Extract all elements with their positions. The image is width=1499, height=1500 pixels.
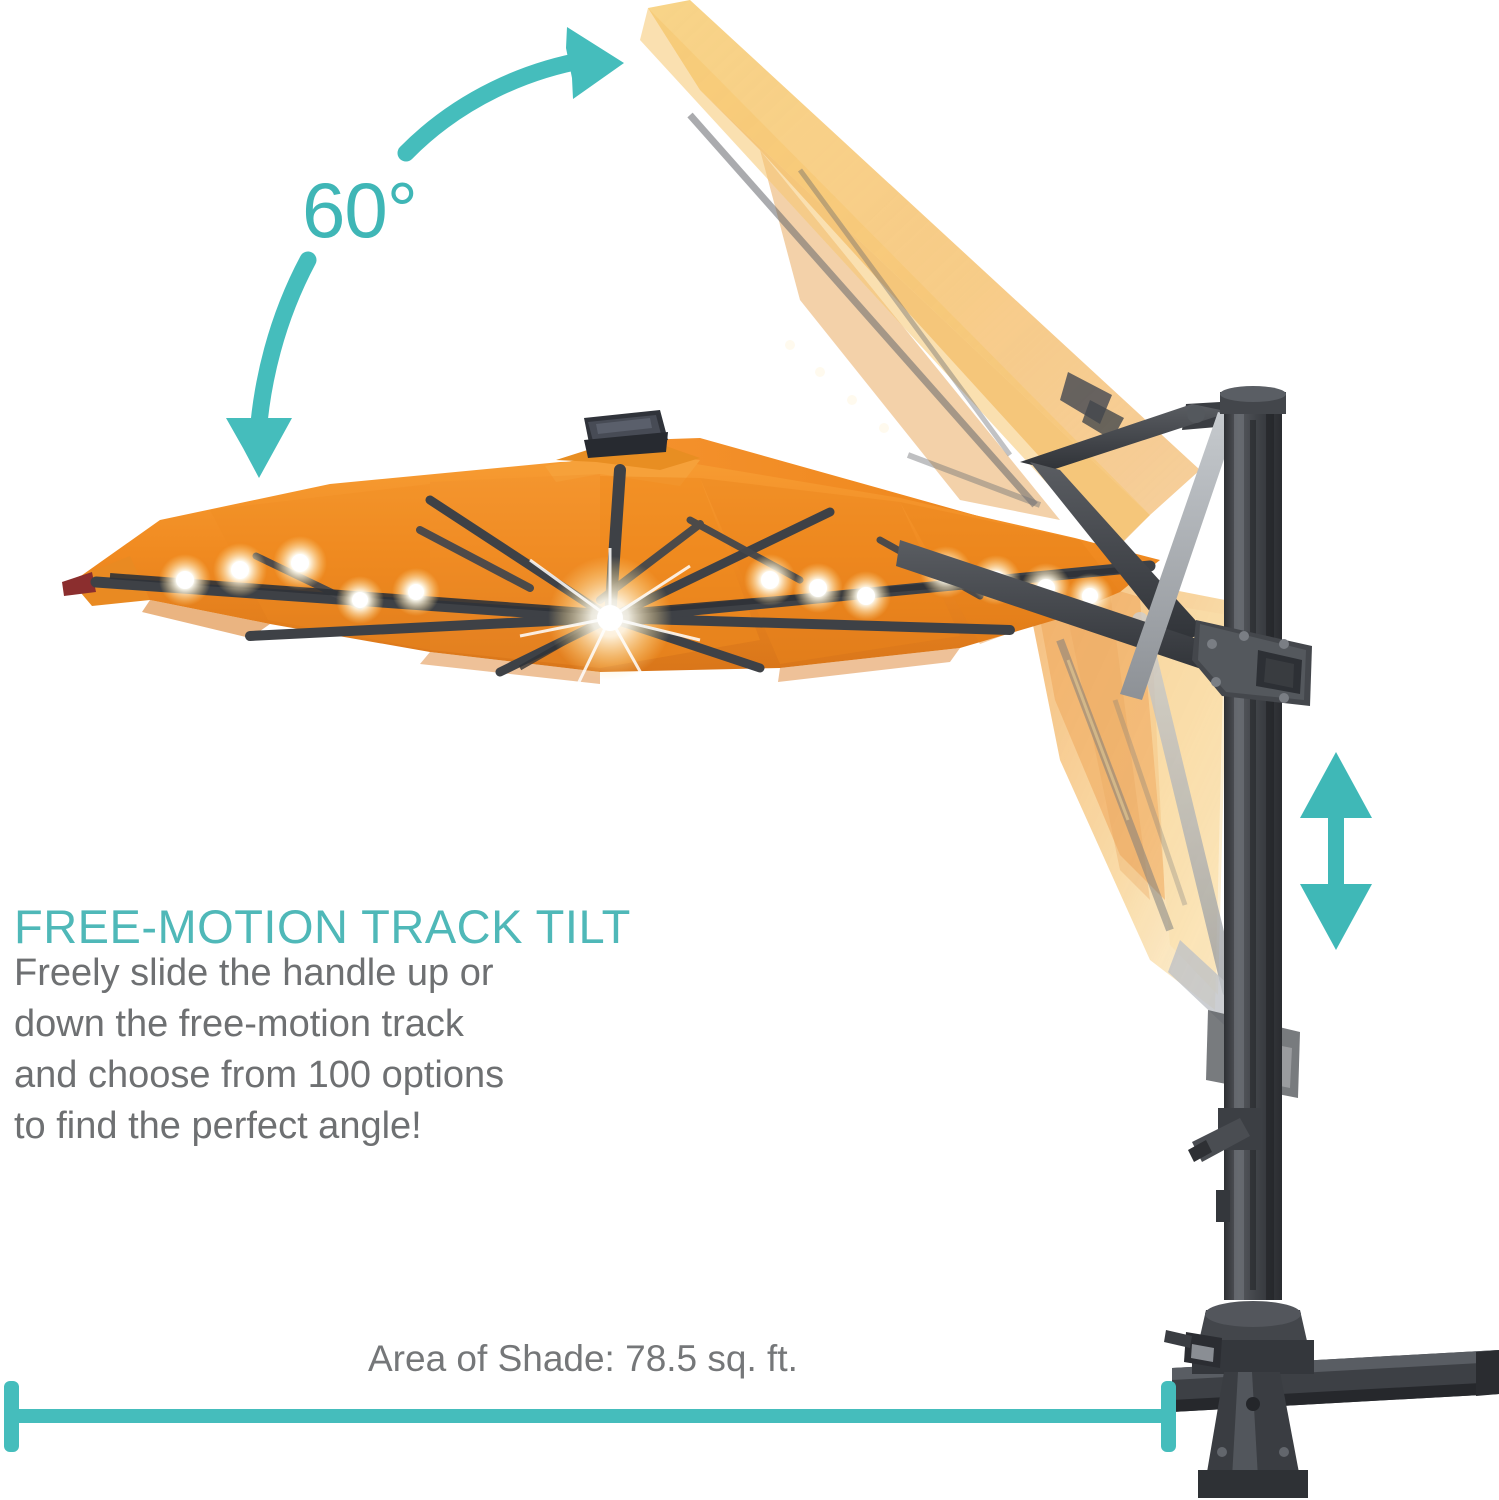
body-line-2: down the free-motion track	[14, 999, 654, 1050]
annotation-overlays	[0, 0, 1499, 1500]
body-line-1: Freely slide the handle up or	[14, 948, 654, 999]
page-title: FREE-MOTION TRACK TILT	[14, 899, 631, 954]
body-line-3: and choose from 100 options	[14, 1050, 654, 1101]
infographic-canvas: 60° FREE-MOTION TRACK TILT Freely slide …	[0, 0, 1499, 1500]
vertical-track-arrow-icon	[1300, 752, 1372, 950]
tilt-arc-arrow-icon	[226, 27, 624, 478]
shade-area-caption: Area of Shade: 78.5 sq. ft.	[368, 1338, 798, 1380]
shade-dimension-line	[4, 1381, 1176, 1452]
body-copy: Freely slide the handle up or down the f…	[14, 948, 654, 1152]
angle-label: 60°	[302, 165, 417, 256]
body-line-4: to find the perfect angle!	[14, 1101, 654, 1152]
